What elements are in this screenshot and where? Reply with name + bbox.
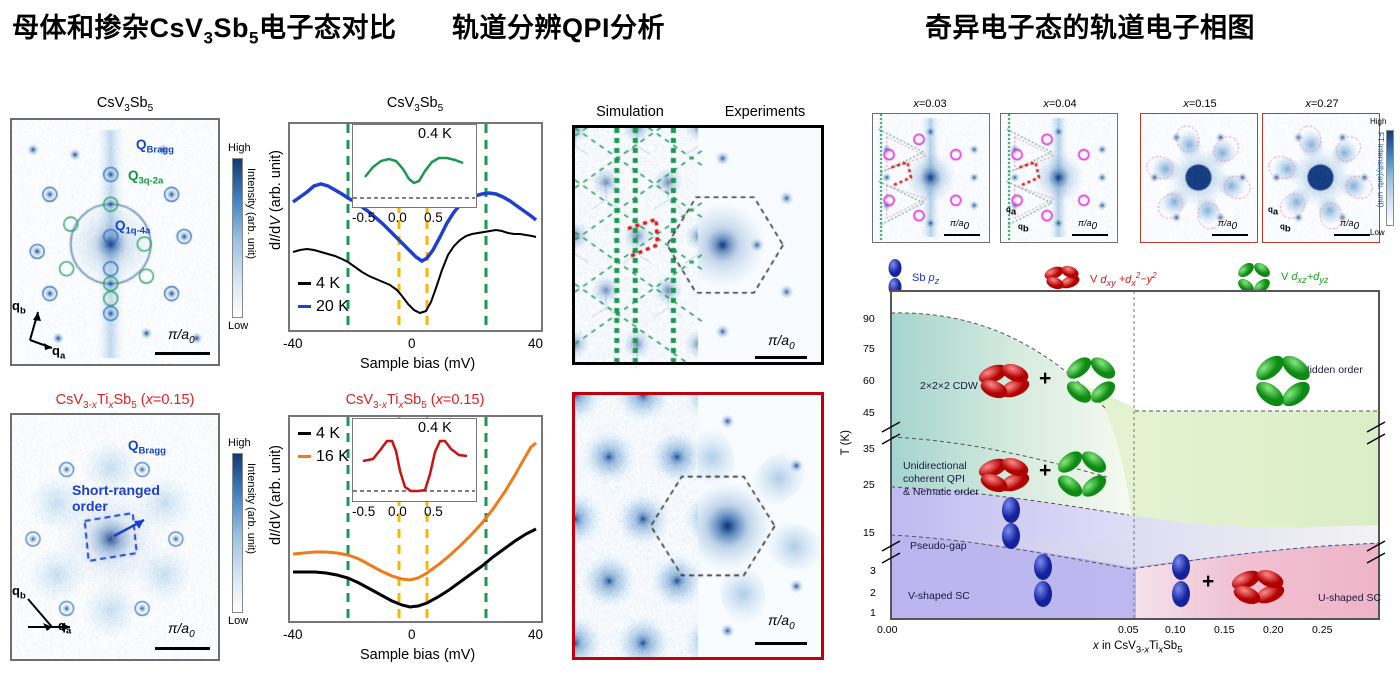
pd-xlabel: x in CsV3-xTixSb5	[1093, 640, 1183, 655]
pd-orbital-blue-vsc	[1030, 552, 1056, 610]
pd-region-label-nematic: Unidirectionalcoherent QPI& Nematic orde…	[903, 460, 979, 499]
small-fft-label-1: x=0.04	[1010, 98, 1110, 110]
short-ranged-arrow	[98, 512, 158, 552]
qpi-top-scale-bar	[755, 356, 807, 359]
v-dxy-legend-text: V dxy +dx2−y2	[1090, 271, 1157, 288]
legend-16k-doped: 16 K	[316, 445, 349, 468]
spectrum-doped-legend: 4 K 16 K	[298, 422, 349, 468]
spectrum-pristine-xtick-max: 40	[528, 336, 543, 351]
pd-ytick-45: 45	[863, 407, 875, 419]
small-fft-scalebar-2	[1212, 234, 1248, 236]
colorbar-high-doped: High	[228, 437, 251, 449]
q-3q2a-label: Q3q-2a	[128, 168, 163, 187]
pd-plus-usc: +	[1202, 570, 1214, 594]
spectrum-pristine-xtick-zero: 0	[408, 336, 416, 351]
pd-ylabel: T (K)	[840, 430, 852, 455]
spectrum-doped-xtick-max: 40	[528, 627, 543, 642]
qpi-experiments-title: Experiments	[700, 104, 830, 120]
pd-plus-cdw: +	[1039, 367, 1051, 391]
pd-orbital-green-hidden	[1252, 350, 1312, 410]
scale-bar-pristine	[155, 352, 210, 355]
q-a-label-doped: qa	[58, 618, 71, 637]
pd-ytick-2: 2	[870, 587, 876, 599]
fft-pristine-title: CsV3Sb5	[50, 95, 200, 114]
y-axis-break-lower	[880, 537, 904, 571]
small-fft-qb-3: qb	[1280, 222, 1291, 235]
y-axis-break-upper	[880, 418, 904, 452]
small-fft-scalebar-0	[944, 234, 980, 236]
pd-ytick-25: 25	[863, 479, 875, 491]
short-ranged-order-label: Short-rangedorder	[72, 483, 160, 514]
scale-label-pristine: π/a0	[168, 326, 195, 346]
pd-orbital-blue-pseudogap	[998, 496, 1024, 552]
q-b-label-doped: qb	[12, 583, 26, 602]
pd-region-label-vsc: V-shaped SC	[908, 590, 970, 603]
small-fft-colorbar-label: FT intensity(arb. unit)	[1376, 132, 1385, 207]
pd-ytick-75: 75	[863, 343, 875, 355]
small-fft-scalebar-1	[1072, 234, 1108, 236]
phase-diagram-plot	[890, 290, 1380, 620]
qpi-top-scale-label: π/a0	[768, 332, 795, 352]
spectrum-doped-ylabel: dI/dV (arb. unit)	[268, 445, 284, 545]
small-fft-qa-1: qa	[1006, 205, 1016, 218]
pd-xtick-015: 0.15	[1214, 624, 1234, 636]
spectrum-pristine-xlabel: Sample bias (mV)	[360, 356, 475, 372]
pd-ytick-60: 60	[863, 375, 875, 387]
inset-xtick-00-pristine: 0.0	[388, 210, 407, 225]
colorbar-low-pristine: Low	[228, 320, 248, 332]
small-fft-qa-3: qa	[1268, 205, 1278, 218]
q-a-label-pristine: qa	[52, 343, 65, 362]
spectrum-doped-title: CsV3-xTixSb5 (x=0.15)	[300, 392, 530, 411]
scale-bar-doped	[155, 647, 210, 650]
small-fft-colorbar-low: Low	[1370, 228, 1385, 237]
small-fft-scale-3: π/a0	[1340, 218, 1359, 232]
inset-xtick-neg05-doped: -0.5	[352, 504, 375, 519]
small-fft-colorbar-high: High	[1370, 117, 1386, 126]
pd-region-label-usc: U-shaped SC	[1318, 592, 1381, 605]
qpi-top-image	[572, 125, 824, 365]
spectrum-doped-inset	[352, 418, 477, 502]
qpi-bottom-scale-bar	[755, 642, 807, 645]
colorbar-label-pristine: Intensity (arb. unit)	[245, 168, 257, 259]
small-fft-image-0	[872, 113, 990, 243]
pd-orbital-red-cdw	[975, 358, 1033, 404]
inset-xtick-05-doped: 0.5	[424, 504, 443, 519]
small-fft-scale-0: π/a0	[950, 218, 969, 232]
pd-xtick-020: 0.20	[1263, 624, 1283, 636]
qpi-simulation-title: Simulation	[570, 104, 690, 120]
pd-region-label-pseudogap: Pseudo-gap	[910, 540, 967, 553]
pd-ytick-90: 90	[863, 313, 875, 325]
spectrum-doped-inset-label: 0.4 K	[418, 420, 452, 436]
fft-doped-title: CsV3-xTixSb5 (x=0.15)	[20, 392, 230, 411]
pd-ytick-35: 35	[863, 443, 875, 455]
pd-orbital-green-cdw	[1062, 352, 1120, 408]
colorbar-label-doped: Intensity (arb. unit)	[245, 463, 257, 554]
header-title-3: 奇异电子态的轨道电子相图	[925, 6, 1255, 45]
y-axis-break-lower-right	[1365, 537, 1389, 571]
q-axes-arrows-doped	[22, 585, 82, 647]
spectrum-pristine-ylabel: dI/dV (arb. unit)	[268, 150, 284, 250]
spectrum-pristine-title: CsV3Sb5	[340, 95, 490, 114]
small-fft-label-0: x=0.03	[880, 98, 980, 110]
pd-orbital-red-nematic	[975, 452, 1033, 498]
y-axis-break-upper-right	[1365, 418, 1389, 452]
inset-xtick-05-pristine: 0.5	[424, 210, 443, 225]
header-title-1: 母体和掺杂CsV3Sb5电子态对比	[12, 6, 396, 48]
pd-orbital-red-usc	[1228, 564, 1290, 610]
qpi-bottom-scale-label: π/a0	[768, 612, 795, 632]
colorbar-high-pristine: High	[228, 142, 251, 154]
spectrum-doped-xtick-min: -40	[283, 627, 303, 642]
small-fft-scale-1: π/a0	[1078, 218, 1097, 232]
pd-ytick-1: 1	[870, 607, 876, 619]
pd-region-label-cdw: 2×2×2 CDW	[920, 380, 978, 393]
spectrum-doped-xtick-zero: 0	[408, 627, 416, 642]
spectrum-doped-xlabel: Sample bias (mV)	[360, 647, 475, 663]
small-fft-label-2: x=0.15	[1150, 98, 1250, 110]
pd-ytick-3: 3	[870, 565, 876, 577]
v-dxz-legend-text: V dxz+dyz	[1281, 271, 1328, 285]
small-fft-label-3: x=0.27	[1272, 98, 1372, 110]
sb-pz-legend-text: Sb pz	[912, 272, 939, 286]
q-bragg-label-pristine: QBragg	[136, 137, 174, 156]
spectrum-pristine-inset	[352, 124, 477, 208]
scale-label-doped: π/a0	[168, 620, 195, 640]
spectrum-pristine-legend: 4 K 20 K	[298, 272, 349, 318]
small-fft-scale-2: π/a0	[1218, 218, 1237, 232]
legend-4k-doped: 4 K	[316, 422, 340, 445]
pd-orbital-blue-usc	[1168, 552, 1194, 610]
small-fft-scalebar-3	[1334, 234, 1370, 236]
pd-xtick-005: 0.05	[1118, 624, 1138, 636]
small-fft-colorbar	[1386, 130, 1394, 226]
colorbar-doped	[232, 453, 243, 613]
spectrum-pristine-inset-label: 0.4 K	[418, 126, 452, 142]
legend-20k-pristine: 20 K	[316, 295, 349, 318]
inset-xtick-00-doped: 0.0	[388, 504, 407, 519]
pd-xtick-000: 0.00	[877, 624, 897, 636]
pd-plus-nematic: +	[1039, 459, 1051, 483]
colorbar-low-doped: Low	[228, 615, 248, 627]
q-b-label-pristine: qb	[12, 298, 26, 317]
small-fft-qb-1: qb	[1018, 222, 1029, 235]
legend-4k-pristine: 4 K	[316, 272, 340, 295]
spectrum-pristine-xtick-min: -40	[283, 336, 303, 351]
pd-ytick-15: 15	[863, 527, 875, 539]
q-1q4a-label: Q1q-4a	[115, 218, 150, 237]
pd-xtick-010: 0.10	[1165, 624, 1185, 636]
inset-xtick-neg05-pristine: -0.5	[352, 210, 375, 225]
pd-xtick-025: 0.25	[1312, 624, 1332, 636]
header-title-2: 轨道分辨QPI分析	[452, 6, 665, 45]
small-fft-image-2	[1140, 113, 1258, 243]
pd-orbital-green-nematic	[1053, 446, 1111, 502]
colorbar-pristine	[232, 158, 243, 318]
q-bragg-label-doped: QBragg	[128, 438, 166, 457]
